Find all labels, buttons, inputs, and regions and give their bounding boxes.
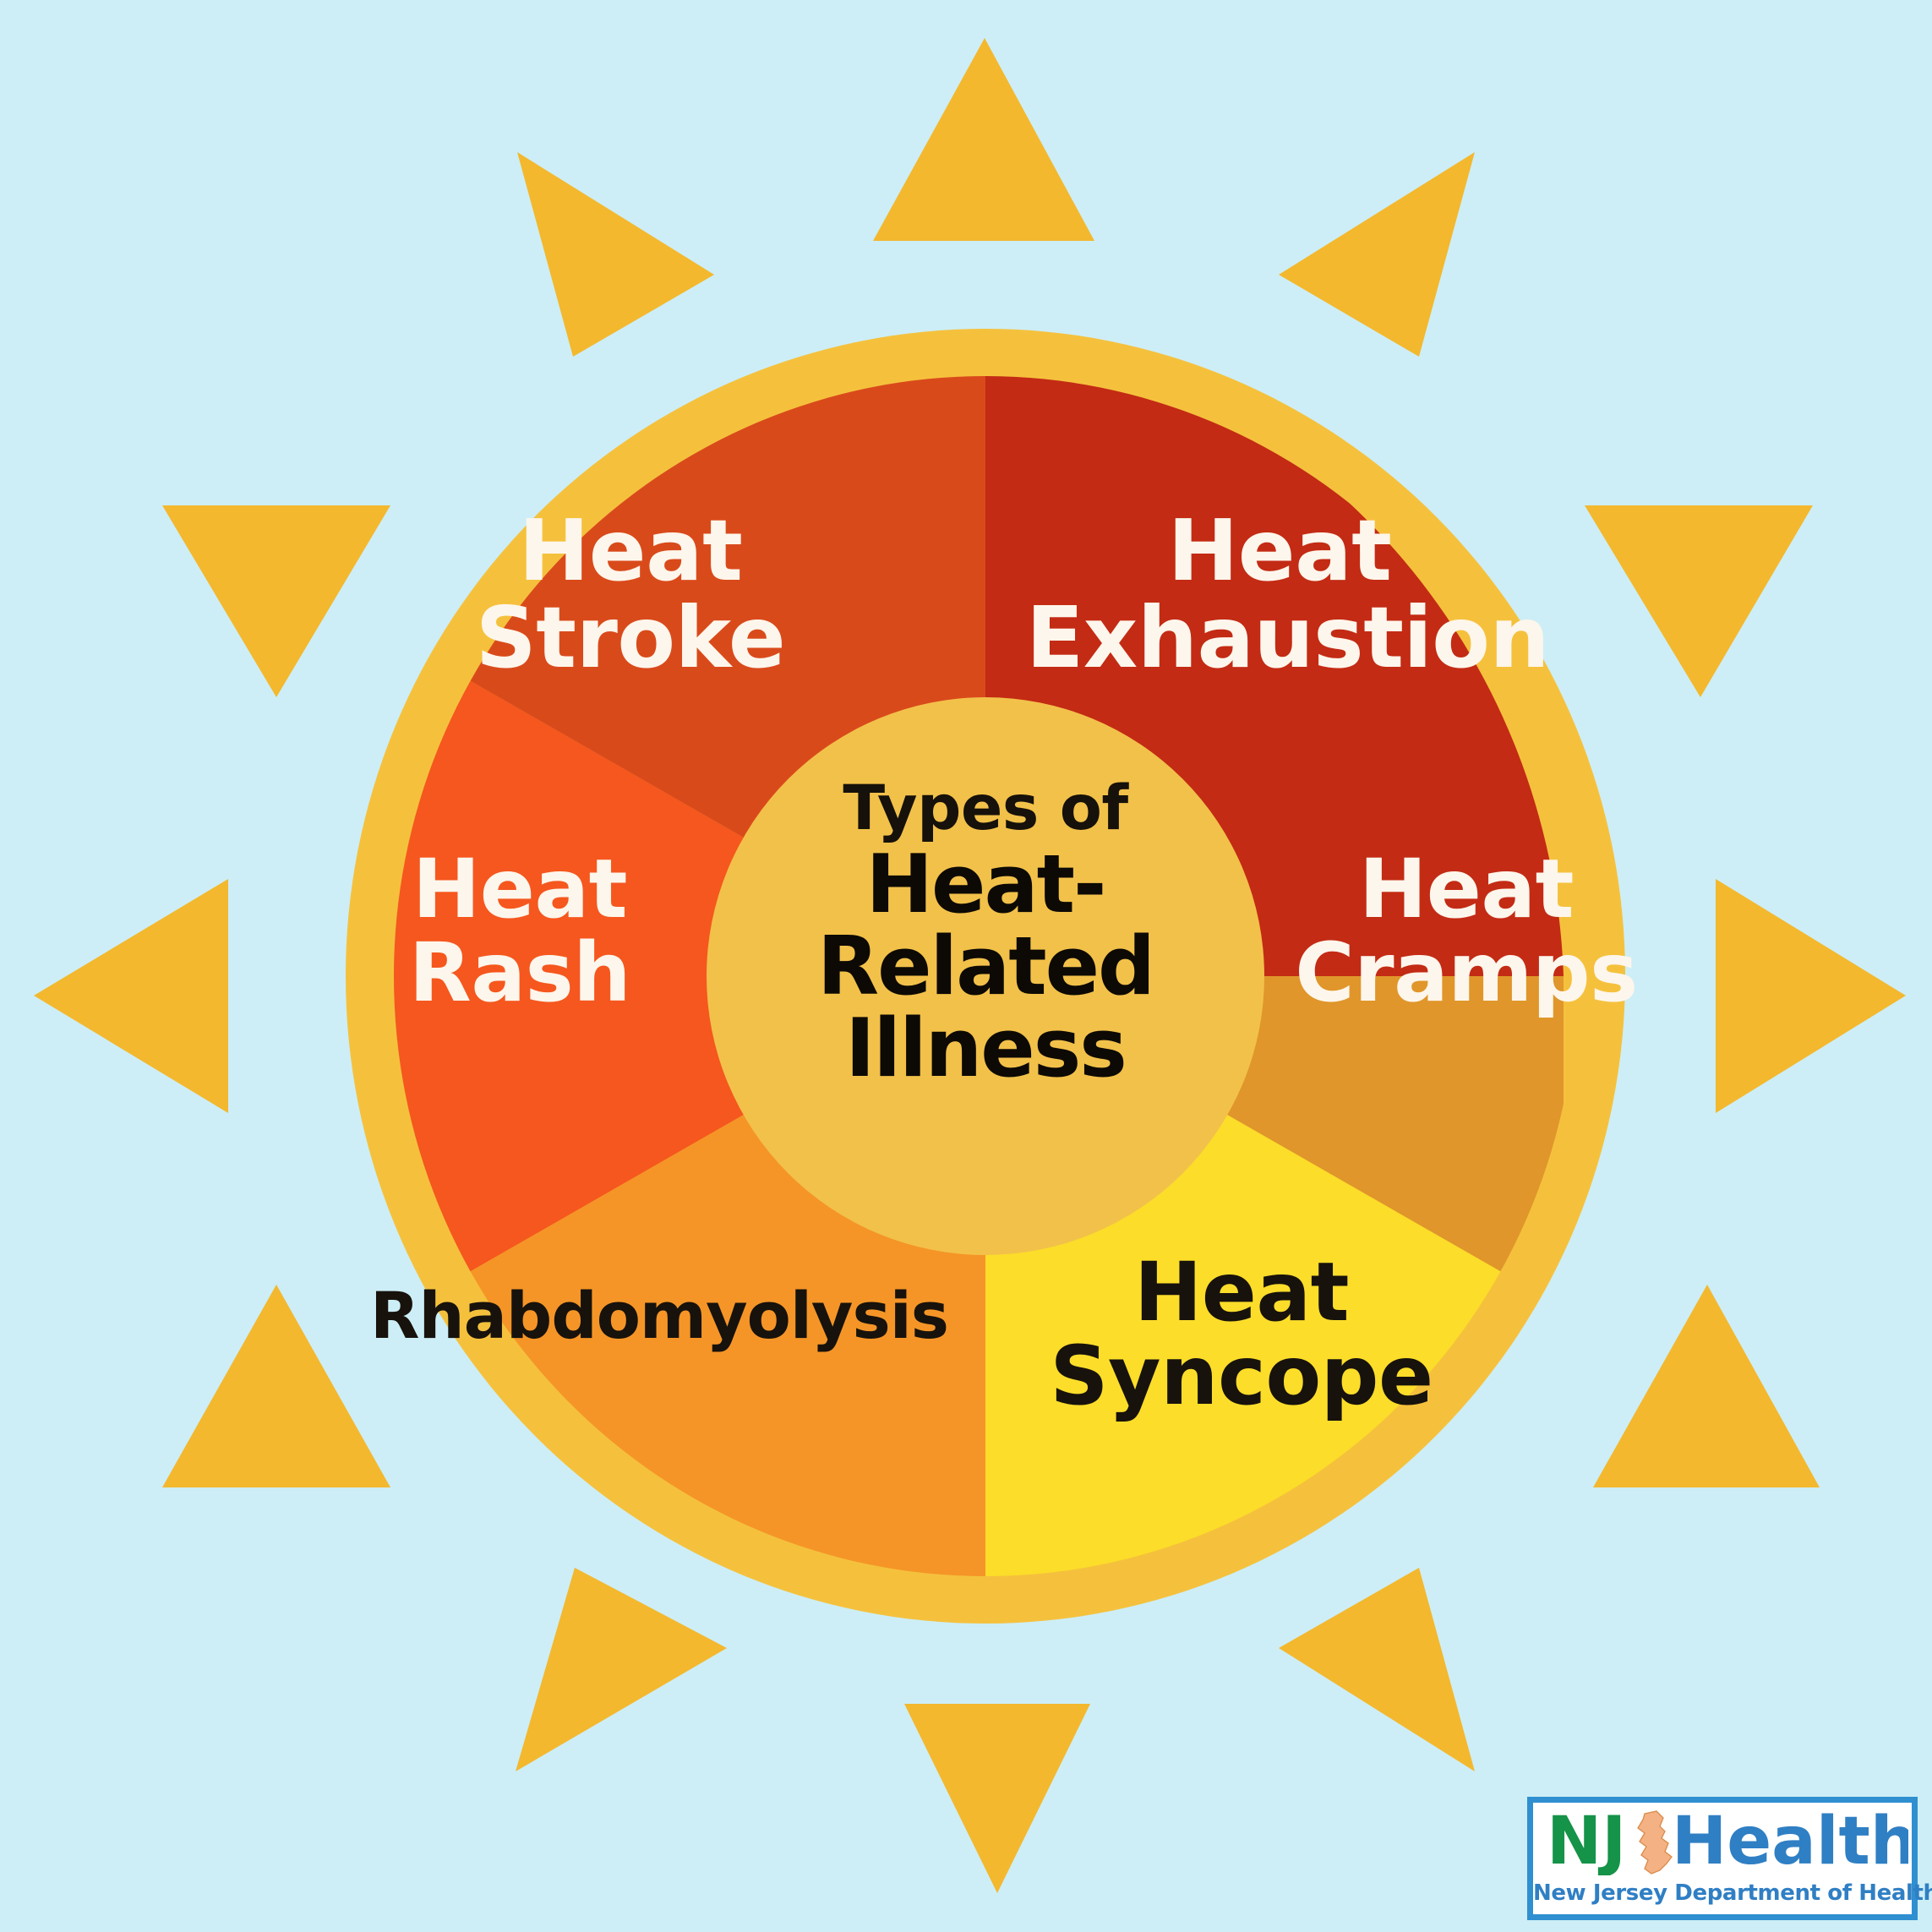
new-jersey-state-shape-icon <box>1638 1811 1672 1874</box>
logo-nj-text: NJ <box>1547 1809 1626 1875</box>
infographic-canvas: Heat Stroke Heat Exhaustion Heat Cramps … <box>0 0 1932 1932</box>
logo-tagline: New Jersey Department of Health <box>1533 1880 1912 1906</box>
nj-health-logo: NJ Health New Jersey Department of Healt… <box>1527 1797 1918 1920</box>
wheel-hub <box>707 697 1264 1255</box>
heat-illness-wheel <box>0 0 1932 1932</box>
nj-health-wordmark: NJ Health <box>1545 1809 1908 1875</box>
logo-health-text: Health <box>1672 1809 1908 1875</box>
